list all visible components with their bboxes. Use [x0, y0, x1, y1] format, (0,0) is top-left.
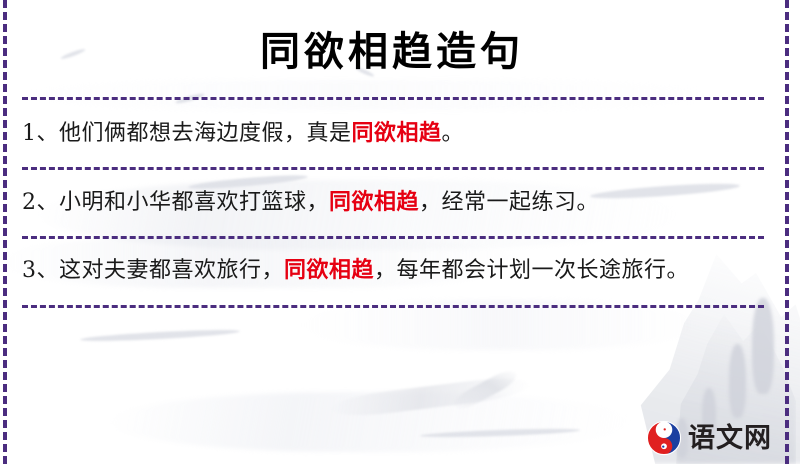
site-logo-text: 语文网 — [688, 425, 772, 452]
sentence-3-text-before: 这对夫妻都喜欢旅行， — [59, 258, 284, 283]
sentence-2: 2、小明和小华都喜欢打篮球，同欲相趋，经常一起练习。 — [18, 170, 766, 237]
sentence-1-text-before: 他们俩都想去海边度假，真是 — [59, 121, 352, 146]
sentence-1: 1、他们俩都想去海边度假，真是同欲相趋。 — [18, 100, 766, 167]
sentence-3: 3、这对夫妻都喜欢旅行，同欲相趋，每年都会计划一次长途旅行。 — [18, 239, 766, 305]
sentence-3-number: 3、 — [22, 258, 59, 283]
sentence-1-text-after: 。 — [442, 121, 465, 146]
divider-4 — [22, 305, 764, 308]
sentence-1-number: 1、 — [22, 121, 59, 146]
yinyang-fish-icon — [646, 420, 682, 456]
sentence-2-idiom: 同欲相趋 — [329, 189, 419, 215]
sentence-2-text-after: ，经常一起练习。 — [419, 190, 599, 215]
sentence-2-number: 2、 — [22, 190, 59, 215]
sentence-1-idiom: 同欲相趋 — [352, 120, 442, 146]
worksheet-page: 同欲相趋造句 1、他们俩都想去海边度假，真是同欲相趋。 2、小明和小华都喜欢打篮… — [0, 0, 800, 464]
sentence-3-text-after: ，每年都会计划一次长途旅行。 — [374, 258, 689, 283]
content-area: 同欲相趋造句 1、他们俩都想去海边度假，真是同欲相趋。 2、小明和小华都喜欢打篮… — [0, 0, 800, 464]
page-title: 同欲相趋造句 — [18, 0, 766, 79]
site-logo[interactable]: 语文网 — [646, 420, 772, 456]
sentence-2-text-before: 小明和小华都喜欢打篮球， — [59, 190, 329, 215]
sentence-3-idiom: 同欲相趋 — [284, 257, 374, 283]
